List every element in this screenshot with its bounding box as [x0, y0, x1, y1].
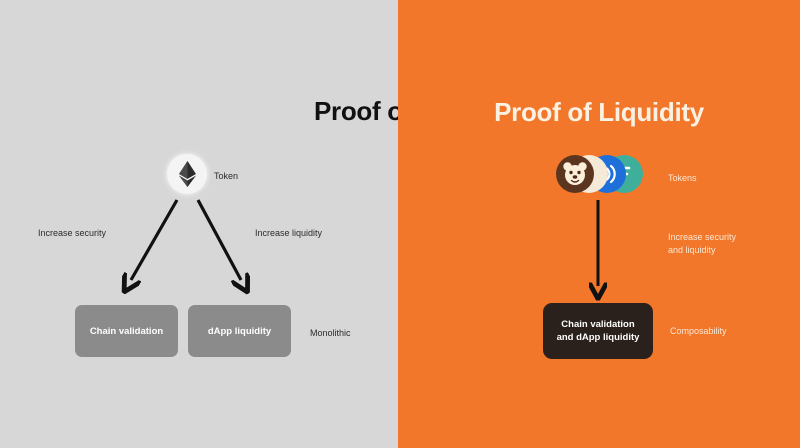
- chain-validation-and-dapp-liquidity-box: Chain validation and dApp liquidity: [543, 303, 653, 359]
- bear-coin-icon: [556, 155, 594, 193]
- token-label: Token: [214, 170, 238, 183]
- increase-security-and-liquidity-label: Increase security and liquidity: [668, 231, 736, 257]
- dapp-liquidity-box: dApp liquidity: [188, 305, 291, 357]
- proof-of-liquidity-panel: [398, 0, 800, 448]
- increase-liquidity-label: Increase liquidity: [255, 227, 322, 240]
- chain-validation-box: Chain validation: [75, 305, 178, 357]
- ethereum-token-icon: [167, 154, 207, 194]
- tokens-label: Tokens: [668, 172, 697, 185]
- comparison-diagram: Proof of Stake Token Increase security I…: [0, 0, 800, 448]
- increase-security-label: Increase security: [38, 227, 106, 240]
- proof-of-stake-panel: [0, 0, 398, 448]
- monolithic-label: Monolithic: [310, 327, 351, 340]
- composability-label: Composability: [670, 325, 727, 338]
- bear-face-icon: [560, 159, 590, 189]
- ethereum-icon: [179, 161, 196, 187]
- proof-of-liquidity-title: Proof of Liquidity: [398, 97, 800, 128]
